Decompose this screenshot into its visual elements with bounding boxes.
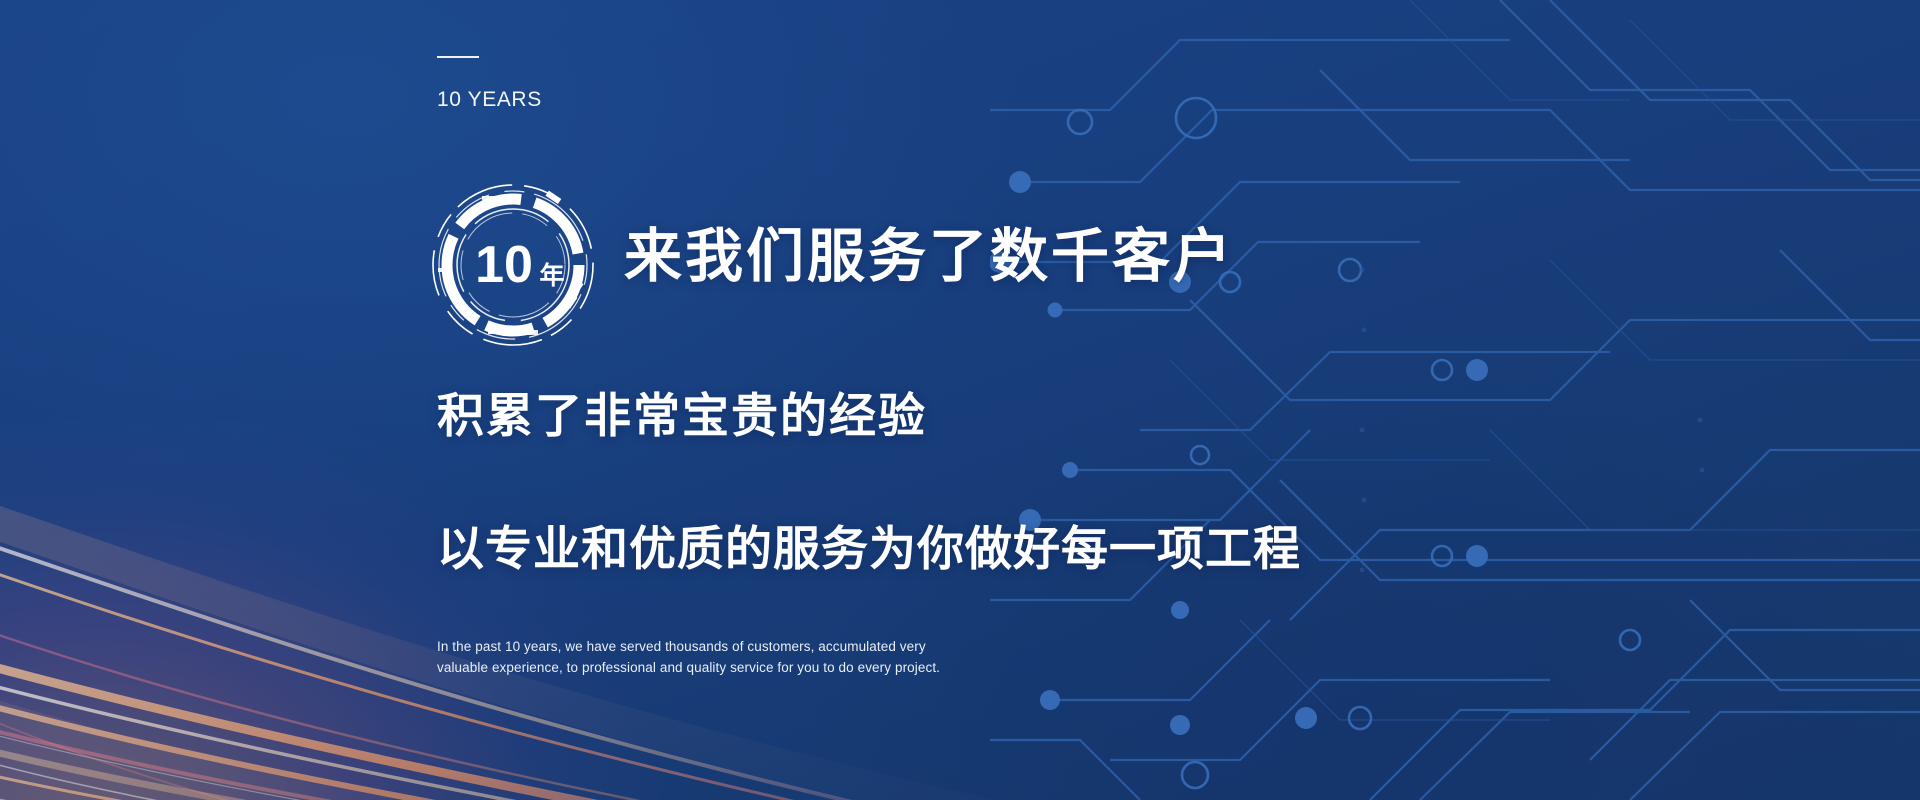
eyebrow-rule: [437, 56, 479, 58]
subheadline-2: 以专业和优质的服务为你做好每一项工程: [437, 525, 1301, 572]
subheadline-1: 积累了非常宝贵的经验: [437, 392, 927, 439]
banner-content: 10 YEARS: [0, 0, 1920, 800]
eyebrow-label: 10 YEARS: [437, 88, 542, 112]
hero-banner: 10 YEARS: [0, 0, 1920, 800]
badge-number: 10: [475, 236, 533, 294]
tech-ring-icon: 10 年: [428, 180, 598, 350]
badge-unit: 年: [539, 261, 564, 290]
english-paragraph: In the past 10 years, we have served tho…: [437, 637, 967, 679]
headline: 来我们服务了数千客户: [624, 228, 1234, 286]
